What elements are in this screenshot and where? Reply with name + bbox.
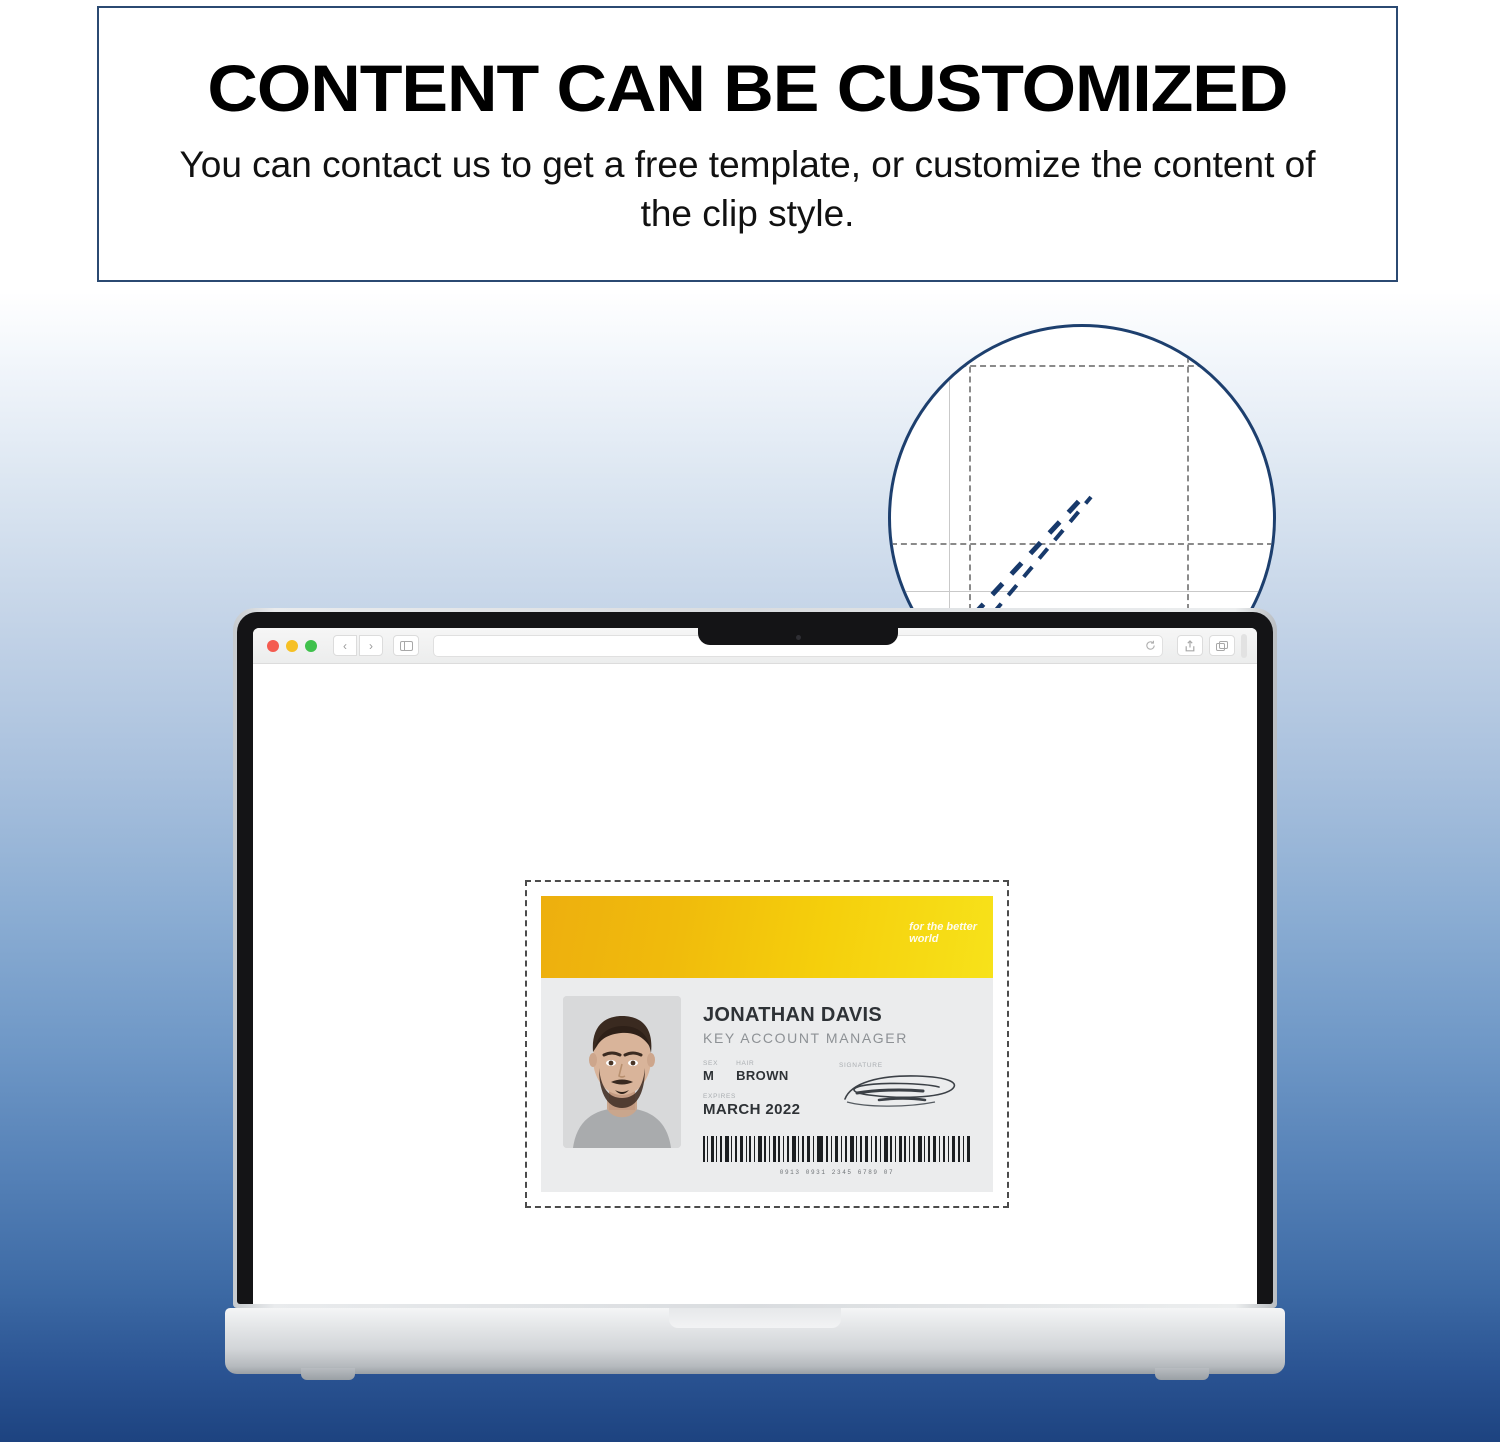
- avatar: [563, 996, 681, 1148]
- share-icon[interactable]: [1177, 635, 1203, 656]
- selection-marquee[interactable]: for the better world: [525, 880, 1009, 1208]
- tabs-glyph: [1216, 641, 1228, 651]
- portrait-photo: [563, 996, 681, 1148]
- sidebar-toggle-icon[interactable]: [393, 635, 419, 656]
- maximize-window-icon[interactable]: [305, 640, 317, 652]
- sidebar-glyph: [400, 641, 413, 651]
- header-band: CONTENT CAN BE CUSTOMIZED You can contac…: [0, 0, 1500, 292]
- laptop-base: [225, 1308, 1285, 1374]
- browser-viewport: for the better world: [253, 664, 1257, 1304]
- laptop-mockup: ‹ ›: [225, 608, 1285, 1398]
- page-title: CONTENT CAN BE CUSTOMIZED: [208, 54, 1288, 123]
- barcode-digits: 0913 0931 2345 6789 07: [703, 1169, 971, 1176]
- camera-icon: [796, 635, 801, 640]
- minimize-window-icon[interactable]: [286, 640, 298, 652]
- cardholder-name: JONATHAN DAVIS: [703, 1004, 977, 1027]
- barcode: 0913 0931 2345 6789 07: [703, 1136, 971, 1176]
- signature-block: SIGNATURE: [839, 1062, 971, 1118]
- laptop-foot-right: [1155, 1368, 1209, 1380]
- field-sex: SEX M: [703, 1060, 718, 1083]
- close-window-icon[interactable]: [267, 640, 279, 652]
- header-callout-box: CONTENT CAN BE CUSTOMIZED You can contac…: [97, 6, 1398, 282]
- toolbar-right-icons[interactable]: [1177, 635, 1235, 656]
- laptop-foot-left: [301, 1368, 355, 1380]
- navigation-buttons[interactable]: ‹ ›: [333, 635, 383, 656]
- field-hair-label: HAIR: [736, 1060, 789, 1067]
- id-card-body: JONATHAN DAVIS KEY ACCOUNT MANAGER SEX M: [541, 978, 993, 1192]
- brand-tagline-line2: world: [909, 934, 977, 946]
- brand-tagline-line1: for the better: [909, 922, 977, 934]
- tabs-icon[interactable]: [1209, 635, 1235, 656]
- address-bar-region: [433, 635, 1163, 657]
- id-card-header-band: for the better world: [541, 896, 993, 978]
- page-subtitle: You can contact us to get a free templat…: [158, 141, 1338, 239]
- back-button[interactable]: ‹: [333, 635, 357, 656]
- id-card-info: JONATHAN DAVIS KEY ACCOUNT MANAGER SEX M: [703, 996, 977, 1192]
- laptop-bezel: ‹ ›: [237, 612, 1273, 1304]
- field-hair: HAIR BROWN: [736, 1060, 789, 1083]
- field-sex-label: SEX: [703, 1060, 718, 1067]
- field-sex-value: M: [703, 1068, 718, 1083]
- camera-notch: [698, 628, 898, 645]
- barcode-bars: [703, 1136, 971, 1162]
- id-card: for the better world: [541, 896, 993, 1192]
- field-hair-value: BROWN: [736, 1068, 789, 1083]
- forward-button[interactable]: ›: [359, 635, 383, 656]
- page-scrollbar[interactable]: [1241, 634, 1247, 658]
- window-controls[interactable]: [267, 640, 317, 652]
- brand-tagline: for the better world: [909, 922, 977, 945]
- cardholder-role: KEY ACCOUNT MANAGER: [703, 1030, 977, 1046]
- reload-icon[interactable]: [1145, 640, 1156, 651]
- share-glyph: [1185, 640, 1195, 652]
- signature-label: SIGNATURE: [839, 1062, 971, 1069]
- laptop-screen: ‹ ›: [253, 628, 1257, 1304]
- browser-toolbar: ‹ ›: [253, 628, 1257, 664]
- signature-icon: [839, 1069, 967, 1113]
- laptop-base-notch: [669, 1308, 841, 1328]
- page-root: CONTENT CAN BE CUSTOMIZED You can contac…: [0, 0, 1500, 1442]
